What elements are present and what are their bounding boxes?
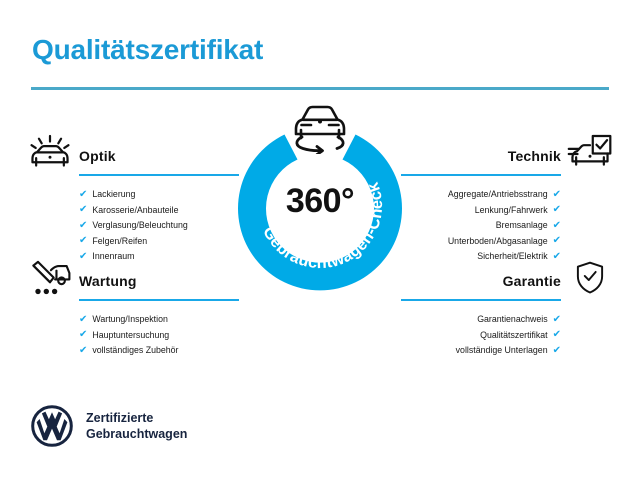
- list-item: Unterboden/Abgasanlage✔: [401, 234, 561, 250]
- list-item-label: Unterboden/Abgasanlage: [448, 237, 548, 246]
- car-rotation-icon: [281, 96, 359, 154]
- section-wartung: Wartung ✔Wartung/Inspektion ✔Hauptunters…: [24, 256, 239, 359]
- check-icon: ✔: [79, 190, 87, 200]
- list-item: Bremsanlage✔: [401, 218, 561, 234]
- car-service-pen-icon: [24, 256, 76, 300]
- list-item-label: Aggregate/Antriebsstrang: [448, 190, 548, 199]
- check-icon: ✔: [553, 330, 561, 340]
- list-item-label: Verglasung/Beleuchtung: [92, 221, 187, 230]
- list-item-label: Lackierung: [92, 190, 135, 199]
- vw-footer-text: Zertifizierte Gebrauchtwagen: [86, 410, 187, 442]
- list-item-label: vollständige Unterlagen: [456, 346, 548, 355]
- list-item: ✔Lackierung: [79, 187, 239, 203]
- list-item: ✔Verglasung/Beleuchtung: [79, 218, 239, 234]
- section-garantie-header: Garantie: [401, 256, 616, 302]
- list-item: Lenkung/Fahrwerk✔: [401, 203, 561, 219]
- list-item: ✔vollständiges Zubehör: [79, 343, 239, 359]
- list-item: ✔Karosserie/Anbauteile: [79, 203, 239, 219]
- list-item-label: Wartung/Inspektion: [92, 315, 167, 324]
- list-item: ✔Felgen/Reifen: [79, 234, 239, 250]
- section-technik-title: Technik: [508, 148, 561, 164]
- list-item-label: vollständiges Zubehör: [92, 346, 178, 355]
- check-icon: ✔: [553, 315, 561, 325]
- section-optik-header: Optik: [24, 131, 239, 177]
- badge-360-gebrauchtwagen-check: Gebrauchtwagen-Check 360°: [232, 118, 408, 294]
- technik-check-list: Aggregate/Antriebsstrang✔ Lenkung/Fahrwe…: [401, 187, 616, 265]
- optik-check-list: ✔Lackierung ✔Karosserie/Anbauteile ✔Verg…: [24, 187, 239, 265]
- section-technik-underline: [401, 174, 561, 176]
- shield-check-icon: [564, 256, 616, 300]
- check-icon: ✔: [79, 205, 87, 215]
- vw-footer: Zertifizierte Gebrauchtwagen: [31, 405, 187, 447]
- list-item-label: Karosserie/Anbauteile: [92, 206, 178, 215]
- list-item: vollständige Unterlagen✔: [401, 343, 561, 359]
- section-optik: Optik ✔Lackierung ✔Karosserie/Anbauteile…: [24, 131, 239, 265]
- certificate-page: Qualitätszertifikat Optik: [0, 0, 640, 480]
- check-icon: ✔: [79, 346, 87, 356]
- check-icon: ✔: [553, 236, 561, 246]
- car-checkbox-icon: [564, 131, 616, 175]
- list-item-label: Lenkung/Fahrwerk: [475, 206, 548, 215]
- garantie-check-list: Garantienachweis✔ Qualitätszertifikat✔ v…: [401, 312, 616, 359]
- vw-footer-line1: Zertifizierte: [86, 410, 187, 426]
- list-item-label: Hauptuntersuchung: [92, 331, 169, 340]
- section-technik-header: Technik: [401, 131, 616, 177]
- section-garantie-title: Garantie: [503, 273, 561, 289]
- car-polish-icon: [24, 131, 76, 175]
- section-wartung-header: Wartung: [24, 256, 239, 302]
- list-item: ✔Hauptuntersuchung: [79, 328, 239, 344]
- list-item-label: Qualitätszertifikat: [480, 331, 547, 340]
- wartung-check-list: ✔Wartung/Inspektion ✔Hauptuntersuchung ✔…: [24, 312, 239, 359]
- section-optik-title: Optik: [79, 148, 116, 164]
- check-icon: ✔: [553, 221, 561, 231]
- vw-footer-line2: Gebrauchtwagen: [86, 426, 187, 442]
- title-divider: [31, 87, 609, 90]
- list-item-label: Bremsanlage: [496, 221, 548, 230]
- check-icon: ✔: [553, 205, 561, 215]
- check-icon: ✔: [79, 315, 87, 325]
- check-icon: ✔: [79, 221, 87, 231]
- section-wartung-underline: [79, 299, 239, 301]
- list-item: ✔Wartung/Inspektion: [79, 312, 239, 328]
- list-item-label: Garantienachweis: [477, 315, 547, 324]
- check-icon: ✔: [79, 330, 87, 340]
- section-garantie: Garantie Garantienachweis✔ Qualitätszert…: [401, 256, 616, 359]
- list-item: Aggregate/Antriebsstrang✔: [401, 187, 561, 203]
- section-optik-underline: [79, 174, 239, 176]
- list-item: Garantienachweis✔: [401, 312, 561, 328]
- list-item-label: Felgen/Reifen: [92, 237, 147, 246]
- check-icon: ✔: [553, 346, 561, 356]
- check-icon: ✔: [553, 190, 561, 200]
- section-wartung-title: Wartung: [79, 273, 137, 289]
- section-technik: Technik Aggregate/Antriebsstrang✔ Lenkun…: [401, 131, 616, 265]
- list-item: Qualitätszertifikat✔: [401, 328, 561, 344]
- badge-value: 360°: [232, 182, 408, 221]
- volkswagen-logo: [31, 405, 73, 447]
- page-title: Qualitätszertifikat: [32, 34, 263, 66]
- section-garantie-underline: [401, 299, 561, 301]
- check-icon: ✔: [79, 236, 87, 246]
